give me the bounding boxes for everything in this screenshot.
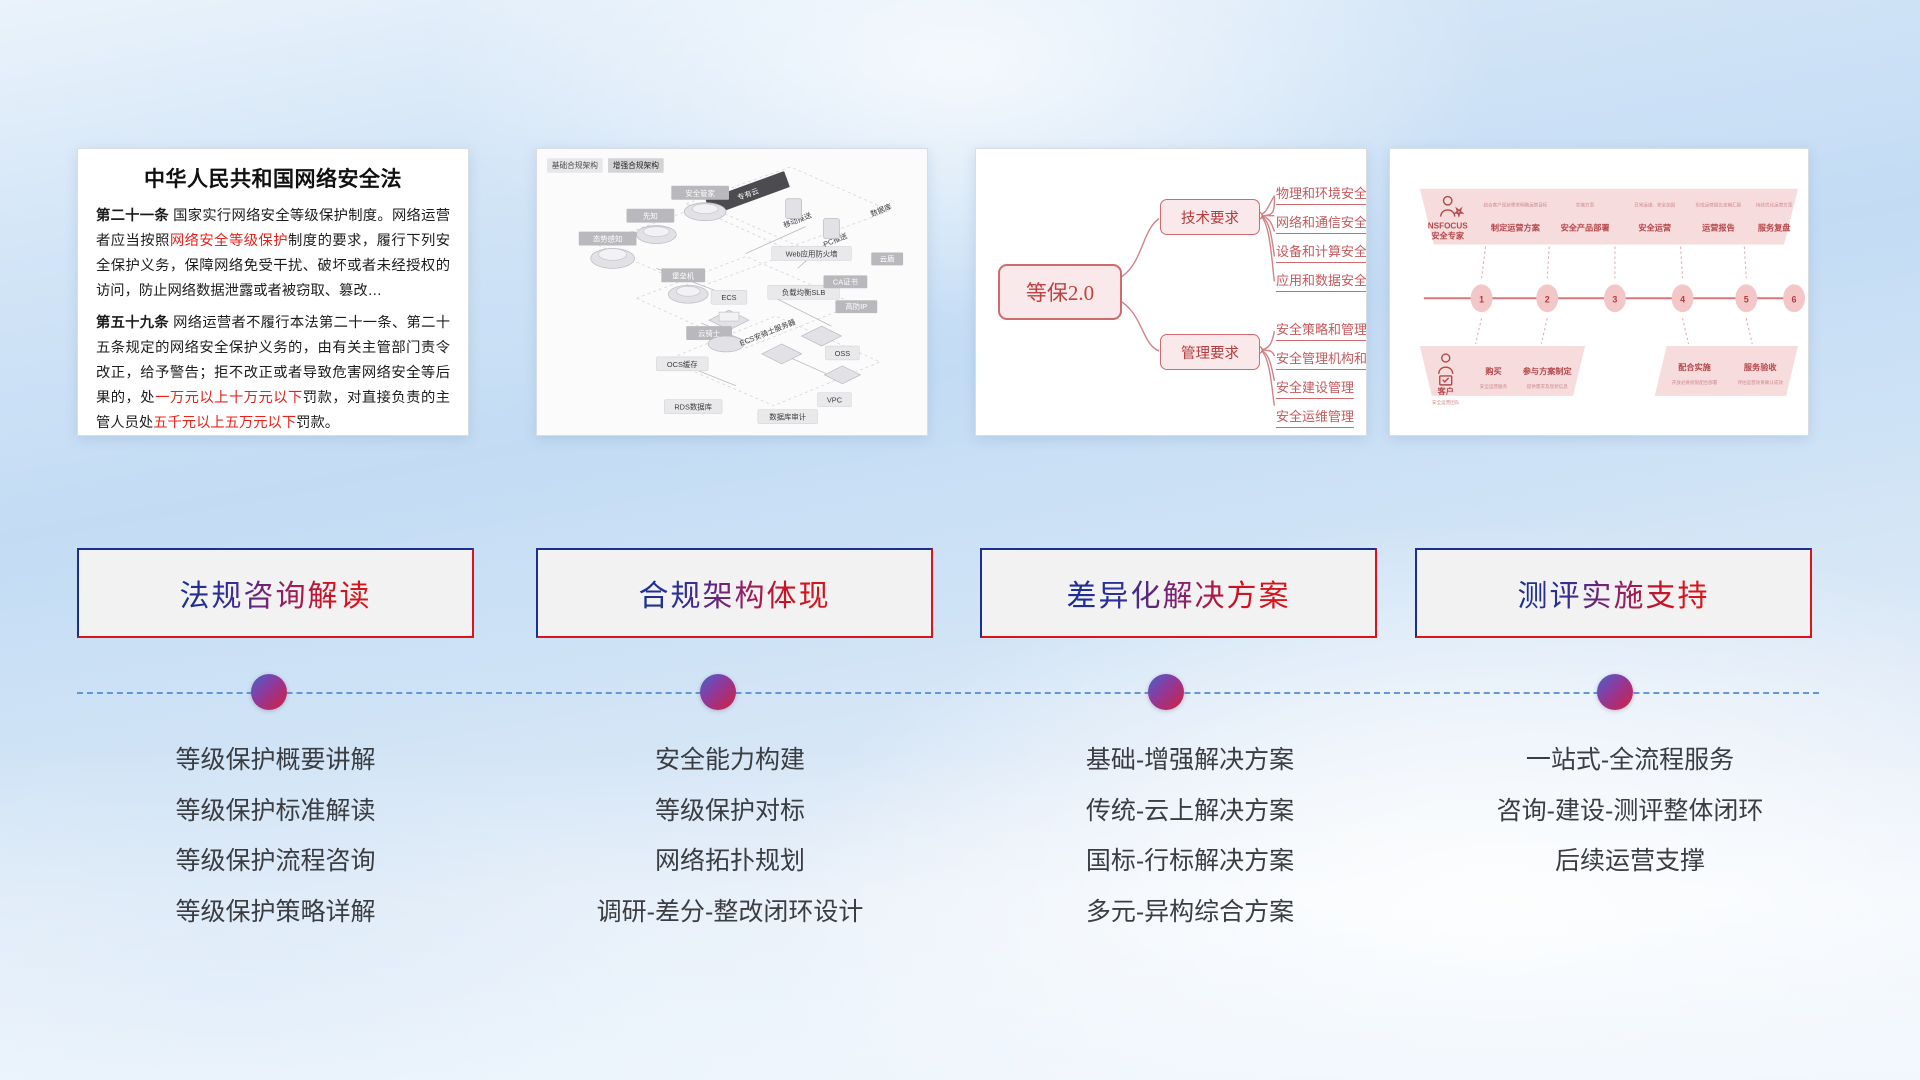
mindmap-leaf-tech-1: 物理和环境安全 [1276, 183, 1367, 205]
law-article-21-label: 第二十一条 [96, 208, 169, 224]
svg-text:CA证书: CA证书 [833, 277, 858, 286]
list-item: 后续运营支撑 [1420, 836, 1840, 887]
svg-text:配合实施: 配合实施 [1678, 362, 1711, 372]
headline-label-2: 合规架构体现 [639, 571, 831, 615]
card-cybersecurity-law[interactable]: 中华人民共和国网络安全法 第二十一条 国家实行网络安全等级保护制度。网络运营者应… [77, 148, 469, 436]
svg-text:安全运营团队: 安全运营团队 [1432, 399, 1460, 406]
list-item: 安全能力构建 [520, 735, 940, 786]
list-item: 传统-云上解决方案 [980, 786, 1400, 837]
svg-text:结合客户现状需求明确运营目标: 结合客户现状需求明确运营目标 [1483, 202, 1547, 209]
list-item: 等级保护对标 [520, 786, 940, 837]
list-item: 基础-增强解决方案 [980, 735, 1400, 786]
mindmap-branch-technical: 技术要求 [1160, 199, 1260, 235]
mindmap-branch-management: 管理要求 [1160, 334, 1260, 370]
detail-list-row: 等级保护概要讲解 等级保护标准解读 等级保护流程咨询 等级保护策略详解 安全能力… [0, 735, 1920, 955]
mindmap-root: 等保2.0 [998, 264, 1122, 320]
headline-label-1: 法规咨询解读 [180, 571, 372, 615]
headline-box-4[interactable]: 测评实施支持 [1415, 548, 1812, 638]
law-article-59-highlight-1: 一万元以上十万元以下 [155, 390, 303, 406]
headline-label-4: 测评实施支持 [1518, 571, 1710, 615]
detail-list-2: 安全能力构建 等级保护对标 网络拓扑规划 调研-差分-整改闭环设计 [520, 735, 940, 937]
timeline-dot-2[interactable] [700, 674, 736, 710]
svg-text:云骑士: 云骑士 [698, 329, 720, 338]
svg-text:负载均衡SLB: 负载均衡SLB [782, 288, 825, 297]
headline-box-3[interactable]: 差异化解决方案 [980, 548, 1377, 638]
svg-text:数据库审计: 数据库审计 [769, 413, 806, 422]
mindmap-leaf-mgmt-2: 安全管理机构和人员 [1276, 348, 1367, 370]
svg-text:OCS缓存: OCS缓存 [667, 360, 698, 369]
svg-text:2: 2 [1545, 294, 1550, 304]
timeline [0, 660, 1920, 720]
card-dengbao-mindmap[interactable]: 等保2.0 技术要求 管理要求 物理和环境安全 网络和通信安全 设备和计算安全 … [975, 148, 1367, 436]
svg-text:数据库: 数据库 [869, 202, 893, 219]
svg-text:购买: 购买 [1484, 366, 1501, 376]
svg-text:云盾: 云盾 [880, 254, 895, 263]
law-article-59: 第五十九条 网络运营者不履行本法第二十一条、第二十五条规定的网络安全保护义务的，… [96, 311, 450, 436]
law-title: 中华人民共和国网络安全法 [96, 163, 450, 193]
mindmap-leaf-tech-2: 网络和通信安全 [1276, 212, 1367, 234]
svg-text:开放必要权限配合部署: 开放必要权限配合部署 [1672, 379, 1718, 386]
svg-text:评估运营效果确认成效: 评估运营效果确认成效 [1737, 379, 1783, 386]
nsfocus-diagram: NSFOCUS 安全专家 结合客户现状需求明确运营目标 制定运营方案 实施方案 … [1390, 149, 1808, 436]
svg-text:服务验收: 服务验收 [1744, 362, 1777, 372]
svg-text:制定运营方案: 制定运营方案 [1491, 223, 1541, 233]
list-item: 国标-行标解决方案 [980, 836, 1400, 887]
law-article-21-highlight: 网络安全等级保护 [170, 233, 288, 249]
nsfocus-brand: NSFOCUS [1428, 222, 1468, 231]
svg-text:5: 5 [1744, 294, 1749, 304]
timeline-dot-4[interactable] [1597, 674, 1633, 710]
svg-text:6: 6 [1792, 294, 1797, 304]
headline-label-3: 差异化解决方案 [1067, 571, 1291, 615]
list-item: 一站式-全流程服务 [1420, 735, 1840, 786]
timeline-dot-1[interactable] [251, 674, 287, 710]
svg-text:安全管家: 安全管家 [685, 189, 715, 198]
card-nsfocus-service-timeline[interactable]: NSFOCUS 安全专家 结合客户现状需求明确运营目标 制定运营方案 实施方案 … [1389, 148, 1809, 436]
list-item: 咨询-建设-测评整体闭环 [1420, 786, 1840, 837]
svg-text:安全产品部署: 安全产品部署 [1561, 223, 1610, 233]
svg-text:ECS: ECS [721, 293, 736, 302]
svg-text:安全运营服务: 安全运营服务 [1480, 383, 1508, 390]
svg-text:OSS: OSS [835, 349, 851, 358]
svg-text:堡垒机: 堡垒机 [672, 271, 695, 280]
svg-text:客户: 客户 [1437, 386, 1454, 396]
architecture-diagram: 专有云 态势感知 先知 [537, 149, 927, 436]
headline-box-1[interactable]: 法规咨询解读 [77, 548, 474, 638]
mindmap-leaf-tech-4: 应用和数据安全 [1276, 270, 1367, 292]
headline-box-2[interactable]: 合规架构体现 [536, 548, 933, 638]
svg-text:4: 4 [1680, 294, 1685, 304]
svg-text:ECS安骑士服务器: ECS安骑士服务器 [738, 317, 797, 348]
svg-text:安全运营: 安全运营 [1638, 223, 1671, 233]
list-item: 多元-异构综合方案 [980, 887, 1400, 938]
headline-row: 法规咨询解读 合规架构体现 差异化解决方案 测评实施支持 [0, 548, 1920, 644]
mindmap-leaf-mgmt-4: 安全运维管理 [1276, 406, 1354, 428]
mindmap-leaf-mgmt-1: 安全策略和管理制度 [1276, 319, 1367, 341]
list-item: 等级保护标准解读 [77, 786, 474, 837]
svg-text:态势感知: 态势感知 [593, 235, 622, 244]
list-item: 调研-差分-整改闭环设计 [520, 887, 940, 938]
svg-text:3: 3 [1612, 294, 1617, 304]
law-article-59-highlight-2: 五千元以上五万元以下 [153, 415, 296, 431]
law-article-59-label: 第五十九条 [96, 315, 169, 331]
timeline-dashed-line [77, 692, 1819, 694]
list-item: 等级保护概要讲解 [77, 735, 474, 786]
svg-text:实施方案: 实施方案 [1576, 202, 1595, 209]
list-item: 等级保护流程咨询 [77, 836, 474, 887]
mindmap-leaf-mgmt-3: 安全建设管理 [1276, 377, 1354, 399]
svg-text:参与方案制定: 参与方案制定 [1523, 366, 1573, 376]
svg-text:服务复盘: 服务复盘 [1758, 223, 1791, 233]
law-article-59-text-3: 罚款。 [296, 415, 339, 431]
nsfocus-brand-sub: 安全专家 [1431, 231, 1464, 241]
svg-text:先知: 先知 [643, 212, 658, 221]
svg-text:运营报告: 运营报告 [1702, 223, 1735, 233]
svg-text:形成运营报告定期汇报: 形成运营报告定期汇报 [1696, 202, 1742, 209]
svg-text:持续优化运营方案: 持续优化运营方案 [1756, 202, 1793, 209]
timeline-dot-3[interactable] [1148, 674, 1184, 710]
svg-text:提供需求及现状信息: 提供需求及现状信息 [1527, 383, 1569, 390]
mindmap-leaf-tech-3: 设备和计算安全 [1276, 241, 1367, 263]
svg-text:日常运维、安全加固: 日常运维、安全加固 [1634, 202, 1676, 209]
card-compliance-architecture[interactable]: 基础合规架构 增强合规架构 [536, 148, 928, 436]
thumbnail-card-row: 中华人民共和国网络安全法 第二十一条 国家实行网络安全等级保护制度。网络运营者应… [0, 148, 1920, 448]
detail-list-3: 基础-增强解决方案 传统-云上解决方案 国标-行标解决方案 多元-异构综合方案 [980, 735, 1400, 937]
svg-text:VPC: VPC [827, 396, 843, 405]
svg-text:高防IP: 高防IP [846, 302, 868, 311]
svg-text:RDS数据库: RDS数据库 [674, 403, 712, 412]
detail-list-1: 等级保护概要讲解 等级保护标准解读 等级保护流程咨询 等级保护策略详解 [77, 735, 474, 937]
svg-text:Web应用防火墙: Web应用防火墙 [786, 249, 838, 258]
detail-list-4: 一站式-全流程服务 咨询-建设-测评整体闭环 后续运营支撑 [1420, 735, 1840, 887]
law-article-21: 第二十一条 国家实行网络安全等级保护制度。网络运营者应当按照网络安全等级保护制度… [96, 204, 450, 304]
list-item: 等级保护策略详解 [77, 887, 474, 938]
list-item: 网络拓扑规划 [520, 836, 940, 887]
svg-text:1: 1 [1479, 294, 1484, 304]
